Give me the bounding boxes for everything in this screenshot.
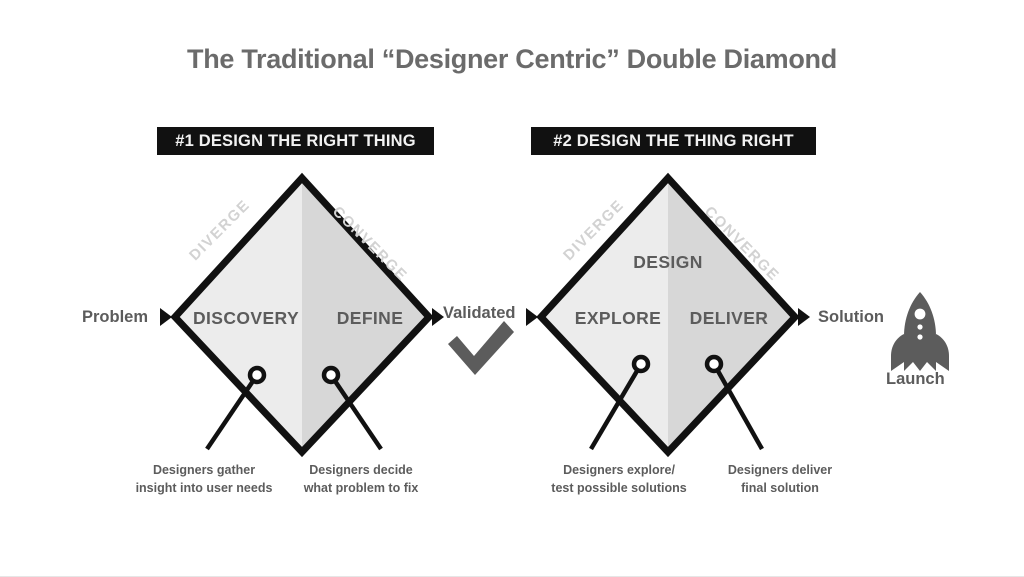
diamond-2-top-label: DESIGN bbox=[608, 252, 728, 273]
check-icon bbox=[448, 321, 514, 375]
diamond-1-diverge-label: DIVERGE bbox=[186, 196, 254, 264]
endpoint-problem-label: Problem bbox=[82, 308, 148, 327]
note-define: Designers decide what problem to fix bbox=[290, 461, 432, 497]
arrow-validated-to-diamond2 bbox=[526, 308, 538, 326]
pin-discovery bbox=[207, 368, 264, 449]
endpoint-validated-label: Validated bbox=[443, 304, 515, 323]
diamond-1-converge-label: CONVERGE bbox=[329, 203, 411, 285]
page-title: The Traditional “Designer Centric” Doubl… bbox=[0, 44, 1024, 75]
diamond-2-left-label: EXPLORE bbox=[558, 308, 678, 329]
note-discovery: Designers gather insight into user needs bbox=[126, 461, 282, 497]
diagram-canvas: The Traditional “Designer Centric” Doubl… bbox=[0, 0, 1024, 577]
rocket-icon bbox=[891, 292, 949, 371]
pin-define bbox=[324, 368, 381, 449]
diamond-1-right-label: DEFINE bbox=[310, 308, 430, 329]
pin-deliver bbox=[707, 357, 762, 449]
arrow-diamond2-to-solution bbox=[798, 308, 810, 326]
arrow-problem-to-diamond1 bbox=[160, 308, 172, 326]
endpoint-launch-label: Launch bbox=[886, 370, 945, 389]
diamond-1-left-label: DISCOVERY bbox=[176, 308, 316, 329]
pin-explore bbox=[591, 357, 648, 449]
diamond-2-right-label: DELIVER bbox=[668, 308, 790, 329]
phase-banner-2: #2 DESIGN THE THING RIGHT bbox=[531, 127, 816, 155]
phase-banner-1: #1 DESIGN THE RIGHT THING bbox=[157, 127, 434, 155]
note-deliver: Designers deliver final solution bbox=[706, 461, 854, 497]
note-explore: Designers explore/ test possible solutio… bbox=[538, 461, 700, 497]
endpoint-solution-label: Solution bbox=[818, 308, 884, 327]
